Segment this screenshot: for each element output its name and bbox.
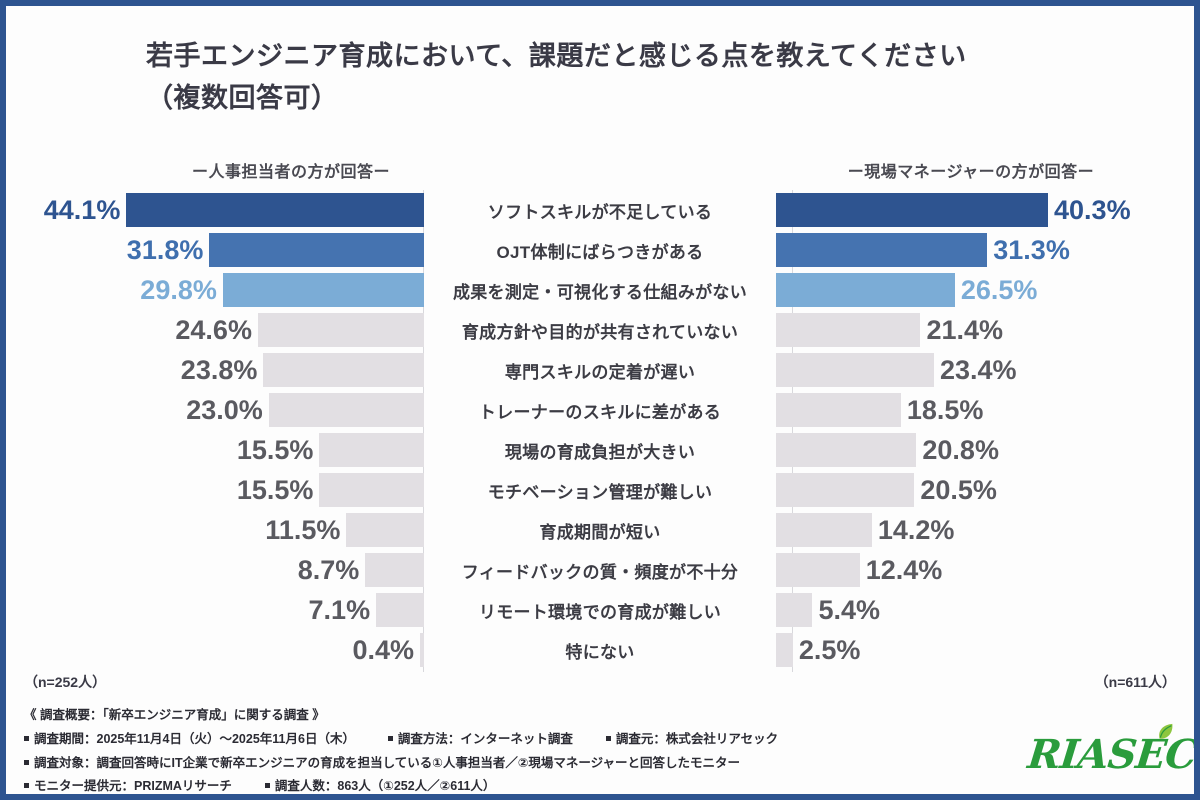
bullet-icon (24, 760, 29, 765)
left-series-cell: 8.7% (6, 550, 424, 590)
left-series-cell: 23.0% (6, 390, 424, 430)
left-series-cell: 0.4% (6, 630, 424, 670)
column-header-left: ー人事担当者の方が回答ー (126, 158, 456, 182)
sample-size-left: （n=252人） (24, 672, 106, 692)
footnote-target: 調査対象：調査回答時にIT企業で新卒エンジニアの育成を担当している①人事担当者／… (34, 756, 740, 770)
right-series-cell: 26.5% (776, 270, 1194, 310)
chart-row: 15.5%現場の育成負担が大きい20.8% (6, 430, 1194, 470)
bullet-icon (24, 783, 29, 788)
chart-row: 29.8%成果を測定・可視化する仕組みがない26.5% (6, 270, 1194, 310)
category-label: 専門スキルの定着が遅い (424, 350, 776, 390)
footnote-source: 調査元：株式会社リアセック (616, 732, 778, 746)
right-series-cell: 14.2% (776, 510, 1194, 550)
leaf-icon (1154, 722, 1176, 744)
right-value-label: 20.5% (914, 477, 997, 504)
right-value-label: 26.5% (955, 277, 1038, 304)
chart-row: 23.0%トレーナーのスキルに差がある18.5% (6, 390, 1194, 430)
left-value-label: 31.8% (127, 237, 210, 264)
left-value-label: 44.1% (44, 197, 127, 224)
left-value-label: 15.5% (237, 437, 320, 464)
sample-size-right: （n=611人） (1095, 672, 1176, 692)
category-label: 育成期間が短い (424, 510, 776, 550)
left-bar (319, 433, 424, 467)
left-value-label: 11.5% (265, 517, 346, 544)
right-bar (776, 513, 872, 547)
right-value-label: 21.4% (920, 317, 1003, 344)
left-bar (365, 553, 424, 587)
right-bar (776, 233, 987, 267)
left-series-cell: 7.1% (6, 590, 424, 630)
chart-row: 23.8%専門スキルの定着が遅い23.4% (6, 350, 1194, 390)
chart-row: 11.5%育成期間が短い14.2% (6, 510, 1194, 550)
right-bar (776, 313, 920, 347)
title-line-2: （複数回答可） (146, 78, 1134, 120)
footnote-heading: 《 調査概要：「新卒エンジニア育成」に関する調査 》 (24, 704, 1176, 728)
category-label: ソフトスキルが不足している (424, 190, 776, 230)
category-label: トレーナーのスキルに差がある (424, 390, 776, 430)
right-value-label: 31.3% (987, 237, 1070, 264)
right-series-cell: 2.5% (776, 630, 1194, 670)
category-label: 現場の育成負担が大きい (424, 430, 776, 470)
left-series-cell: 15.5% (6, 430, 424, 470)
left-bar (346, 513, 424, 547)
right-bar (776, 193, 1048, 227)
chart-row: 15.5%モチベーション管理が難しい20.5% (6, 470, 1194, 510)
right-series-cell: 40.3% (776, 190, 1194, 230)
category-label: リモート環境での育成が難しい (424, 590, 776, 630)
bullet-icon (606, 736, 611, 741)
title-line-1: 若手エンジニア育成において、課題だと感じる点を教えてください (146, 41, 967, 71)
category-label: 特にない (424, 630, 776, 670)
right-bar (776, 353, 934, 387)
right-value-label: 5.4% (812, 597, 880, 624)
column-header-right: ー現場マネージャーの方が回答ー (796, 158, 1146, 182)
chart-row: 24.6%育成方針や目的が共有されていない21.4% (6, 310, 1194, 350)
riasec-logo: RIASEC (1028, 720, 1180, 782)
right-series-cell: 20.5% (776, 470, 1194, 510)
footnote-respondents: 調査人数：863人（①252人／②611人） (275, 779, 496, 793)
left-series-cell: 15.5% (6, 470, 424, 510)
right-value-label: 20.8% (916, 437, 999, 464)
left-bar (258, 313, 424, 347)
page-title: 若手エンジニア育成において、課題だと感じる点を教えてください （複数回答可） (146, 36, 1134, 120)
left-series-cell: 11.5% (6, 510, 424, 550)
left-value-label: 23.8% (181, 357, 264, 384)
chart-row: 7.1%リモート環境での育成が難しい5.4% (6, 590, 1194, 630)
bullet-icon (388, 736, 393, 741)
right-series-cell: 31.3% (776, 230, 1194, 270)
left-value-label: 0.4% (352, 637, 420, 664)
left-value-label: 7.1% (309, 597, 377, 624)
left-bar (126, 193, 424, 227)
right-bar (776, 553, 860, 587)
right-value-label: 14.2% (872, 517, 955, 544)
bullet-icon (24, 736, 29, 741)
right-series-cell: 21.4% (776, 310, 1194, 350)
left-bar (319, 473, 424, 507)
category-label: 育成方針や目的が共有されていない (424, 310, 776, 350)
left-value-label: 8.7% (298, 557, 366, 584)
footnote-period: 調査期間：2025年11月4日（火）〜2025年11月6日（木） (34, 732, 355, 746)
left-series-cell: 31.8% (6, 230, 424, 270)
footnote-monitor: モニター提供元：PRIZMAリサーチ (34, 779, 232, 793)
category-label: OJT体制にばらつきがある (424, 230, 776, 270)
footnote-method: 調査方法：インターネット調査 (398, 732, 573, 746)
chart-row: 44.1%ソフトスキルが不足している40.3% (6, 190, 1194, 230)
left-value-label: 15.5% (237, 477, 320, 504)
chart-row: 8.7%フィードバックの質・頻度が不十分12.4% (6, 550, 1194, 590)
left-value-label: 23.0% (186, 397, 269, 424)
right-bar (776, 473, 914, 507)
right-series-cell: 18.5% (776, 390, 1194, 430)
left-bar (420, 633, 424, 667)
right-value-label: 23.4% (934, 357, 1017, 384)
bar-chart: 44.1%ソフトスキルが不足している40.3%31.8%OJT体制にばらつきがあ… (6, 190, 1194, 670)
right-series-cell: 20.8% (776, 430, 1194, 470)
left-series-cell: 24.6% (6, 310, 424, 350)
left-series-cell: 23.8% (6, 350, 424, 390)
right-bar (776, 273, 955, 307)
right-bar (776, 633, 793, 667)
category-label: モチベーション管理が難しい (424, 470, 776, 510)
left-series-cell: 44.1% (6, 190, 424, 230)
left-bar (209, 233, 424, 267)
left-bar (223, 273, 424, 307)
survey-infographic: 若手エンジニア育成において、課題だと感じる点を教えてください （複数回答可） ー… (0, 0, 1200, 800)
right-value-label: 12.4% (860, 557, 943, 584)
right-bar (776, 393, 901, 427)
footnote-line-1: 調査期間：2025年11月4日（火）〜2025年11月6日（木） 調査方法：イン… (24, 728, 1176, 752)
right-value-label: 40.3% (1048, 197, 1131, 224)
left-bar (269, 393, 424, 427)
category-label: フィードバックの質・頻度が不十分 (424, 550, 776, 590)
right-value-label: 18.5% (901, 397, 984, 424)
chart-row: 31.8%OJT体制にばらつきがある31.3% (6, 230, 1194, 270)
left-value-label: 24.6% (175, 317, 258, 344)
left-bar (376, 593, 424, 627)
right-value-label: 2.5% (793, 637, 861, 664)
right-series-cell: 12.4% (776, 550, 1194, 590)
left-bar (263, 353, 424, 387)
right-bar (776, 593, 812, 627)
left-value-label: 29.8% (140, 277, 223, 304)
category-label: 成果を測定・可視化する仕組みがない (424, 270, 776, 310)
chart-row: 0.4%特にない2.5% (6, 630, 1194, 670)
left-series-cell: 29.8% (6, 270, 424, 310)
footnote-line-3: モニター提供元：PRIZMAリサーチ 調査人数：863人（①252人／②611人… (24, 775, 1176, 799)
bullet-icon (265, 783, 270, 788)
right-series-cell: 5.4% (776, 590, 1194, 630)
right-series-cell: 23.4% (776, 350, 1194, 390)
right-bar (776, 433, 916, 467)
survey-footnote: 《 調査概要：「新卒エンジニア育成」に関する調査 》 調査期間：2025年11月… (24, 704, 1176, 799)
footnote-line-2: 調査対象：調査回答時にIT企業で新卒エンジニアの育成を担当している①人事担当者／… (24, 752, 1176, 776)
